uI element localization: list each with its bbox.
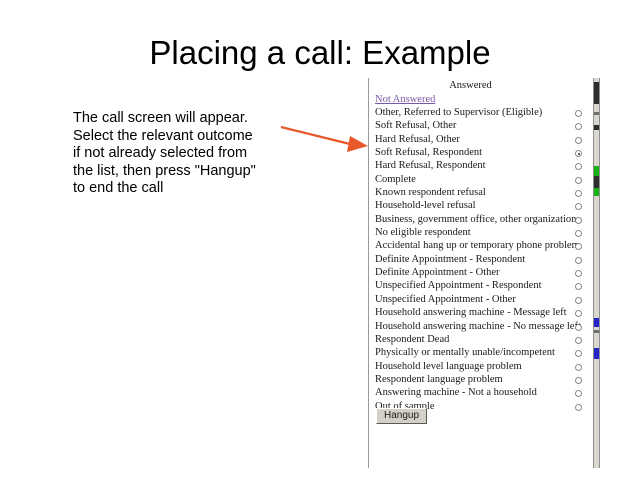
outcome-radio[interactable] bbox=[575, 257, 582, 264]
outcome-row[interactable]: Soft Refusal, Respondent bbox=[369, 147, 593, 160]
scrollbar-mark bbox=[594, 318, 599, 327]
outcome-radio[interactable] bbox=[575, 230, 582, 237]
outcome-label: Unspecified Appointment - Other bbox=[375, 293, 516, 306]
outcome-radio[interactable] bbox=[575, 190, 582, 197]
caption-line: Select the relevant outcome bbox=[73, 128, 283, 146]
outcome-radio[interactable] bbox=[575, 310, 582, 317]
outcome-row[interactable]: Household answering machine - Message le… bbox=[369, 307, 593, 320]
outcome-label: Household level language problem bbox=[375, 360, 522, 373]
outcome-row[interactable]: Respondent Dead bbox=[369, 334, 593, 347]
outcome-radio[interactable] bbox=[575, 404, 582, 411]
answered-header-label: Answered bbox=[369, 80, 593, 91]
caption-line: to end the call bbox=[73, 180, 283, 198]
instruction-caption: The call screen will appear. Select the … bbox=[73, 110, 283, 198]
outcome-radio[interactable] bbox=[575, 110, 582, 117]
outcome-row[interactable]: Unspecified Appointment - Respondent bbox=[369, 280, 593, 293]
outcome-radio[interactable] bbox=[575, 390, 582, 397]
outcome-row[interactable]: Respondent language problem bbox=[369, 374, 593, 387]
outcome-radio[interactable] bbox=[575, 350, 582, 357]
outcome-radio[interactable] bbox=[575, 337, 582, 344]
call-screen-capture: Answered Not Answered Other, Referred to… bbox=[368, 78, 593, 468]
outcome-label: Unspecified Appointment - Respondent bbox=[375, 279, 542, 292]
outcome-row[interactable]: Business, government office, other organ… bbox=[369, 214, 593, 227]
outcome-label: Soft Refusal, Other bbox=[375, 119, 456, 132]
call-screen-content: Answered Not Answered Other, Referred to… bbox=[369, 78, 593, 468]
outcome-list[interactable]: Other, Referred to Supervisor (Eligible)… bbox=[369, 107, 593, 414]
outcome-label: Household answering machine - Message le… bbox=[375, 306, 567, 319]
outcome-label: Accidental hang up or temporary phone pr… bbox=[375, 239, 580, 252]
outcome-row[interactable]: Known respondent refusal bbox=[369, 187, 593, 200]
outcome-radio[interactable] bbox=[575, 163, 582, 170]
outcome-row[interactable]: Definite Appointment - Respondent bbox=[369, 254, 593, 267]
hangup-button[interactable]: Hangup bbox=[376, 408, 427, 424]
scrollbar-mark bbox=[594, 125, 599, 130]
outcome-radio[interactable] bbox=[575, 243, 582, 250]
outcome-row[interactable]: Definite Appointment - Other bbox=[369, 267, 593, 280]
caption-line: if not already selected from bbox=[73, 145, 283, 163]
outcome-row[interactable]: Soft Refusal, Other bbox=[369, 120, 593, 133]
scrollbar-mark bbox=[594, 188, 599, 196]
outcome-row[interactable]: Other, Referred to Supervisor (Eligible) bbox=[369, 107, 593, 120]
outcome-label: Respondent Dead bbox=[375, 333, 449, 346]
outcome-row[interactable]: Household answering machine - No message… bbox=[369, 321, 593, 334]
outcome-row[interactable]: No eligible respondent bbox=[369, 227, 593, 240]
outcome-row[interactable]: Household level language problem bbox=[369, 361, 593, 374]
outcome-label: Known respondent refusal bbox=[375, 186, 486, 199]
scrollbar-mark bbox=[594, 348, 599, 359]
scrollbar-mark bbox=[594, 166, 599, 176]
pointer-arrow bbox=[280, 118, 372, 160]
outcome-label: Hard Refusal, Respondent bbox=[375, 159, 486, 172]
outcome-radio[interactable] bbox=[575, 177, 582, 184]
outcome-label: Household-level refusal bbox=[375, 199, 476, 212]
outcome-radio[interactable] bbox=[575, 217, 582, 224]
outcome-label: Business, government office, other organ… bbox=[375, 213, 576, 226]
scrollbar-mark bbox=[594, 82, 599, 104]
outcome-row[interactable]: Hard Refusal, Respondent bbox=[369, 160, 593, 173]
outcome-row[interactable]: Hard Refusal, Other bbox=[369, 134, 593, 147]
outcome-label: Definite Appointment - Respondent bbox=[375, 253, 525, 266]
outcome-radio[interactable] bbox=[575, 377, 582, 384]
outcome-row[interactable]: Complete bbox=[369, 174, 593, 187]
capture-scrollbar[interactable] bbox=[593, 78, 600, 468]
outcome-radio[interactable] bbox=[575, 123, 582, 130]
caption-line: the list, then press "Hangup" bbox=[73, 163, 283, 181]
outcome-label: Household answering machine - No message… bbox=[375, 320, 581, 333]
page-title: Placing a call: Example bbox=[0, 34, 640, 72]
outcome-label: Other, Referred to Supervisor (Eligible) bbox=[375, 106, 542, 119]
outcome-radio[interactable] bbox=[575, 297, 582, 304]
scrollbar-mark bbox=[594, 176, 599, 188]
outcome-label: Answering machine - Not a household bbox=[375, 386, 537, 399]
outcome-label: Physically or mentally unable/incompeten… bbox=[375, 346, 555, 359]
outcome-row[interactable]: Answering machine - Not a household bbox=[369, 387, 593, 400]
outcome-label: No eligible respondent bbox=[375, 226, 471, 239]
outcome-label: Soft Refusal, Respondent bbox=[375, 146, 482, 159]
not-answered-link[interactable]: Not Answered bbox=[375, 94, 435, 105]
outcome-radio-selected[interactable] bbox=[575, 150, 582, 157]
outcome-label: Hard Refusal, Other bbox=[375, 133, 460, 146]
outcome-radio[interactable] bbox=[575, 203, 582, 210]
outcome-radio[interactable] bbox=[575, 283, 582, 290]
outcome-row[interactable]: Physically or mentally unable/incompeten… bbox=[369, 347, 593, 360]
outcome-label: Respondent language problem bbox=[375, 373, 503, 386]
outcome-label: Complete bbox=[375, 173, 416, 186]
arrow-icon bbox=[280, 118, 372, 160]
caption-line: The call screen will appear. bbox=[73, 110, 283, 128]
outcome-row[interactable]: Accidental hang up or temporary phone pr… bbox=[369, 240, 593, 253]
outcome-label: Definite Appointment - Other bbox=[375, 266, 500, 279]
outcome-row[interactable]: Household-level refusal bbox=[369, 200, 593, 213]
outcome-radio[interactable] bbox=[575, 364, 582, 371]
slide-canvas: Placing a call: Example The call screen … bbox=[0, 0, 640, 480]
outcome-radio[interactable] bbox=[575, 137, 582, 144]
outcome-radio[interactable] bbox=[575, 270, 582, 277]
outcome-row[interactable]: Unspecified Appointment - Other bbox=[369, 294, 593, 307]
scrollbar-mark bbox=[594, 112, 599, 115]
outcome-radio[interactable] bbox=[575, 324, 582, 331]
scrollbar-mark bbox=[594, 330, 599, 333]
